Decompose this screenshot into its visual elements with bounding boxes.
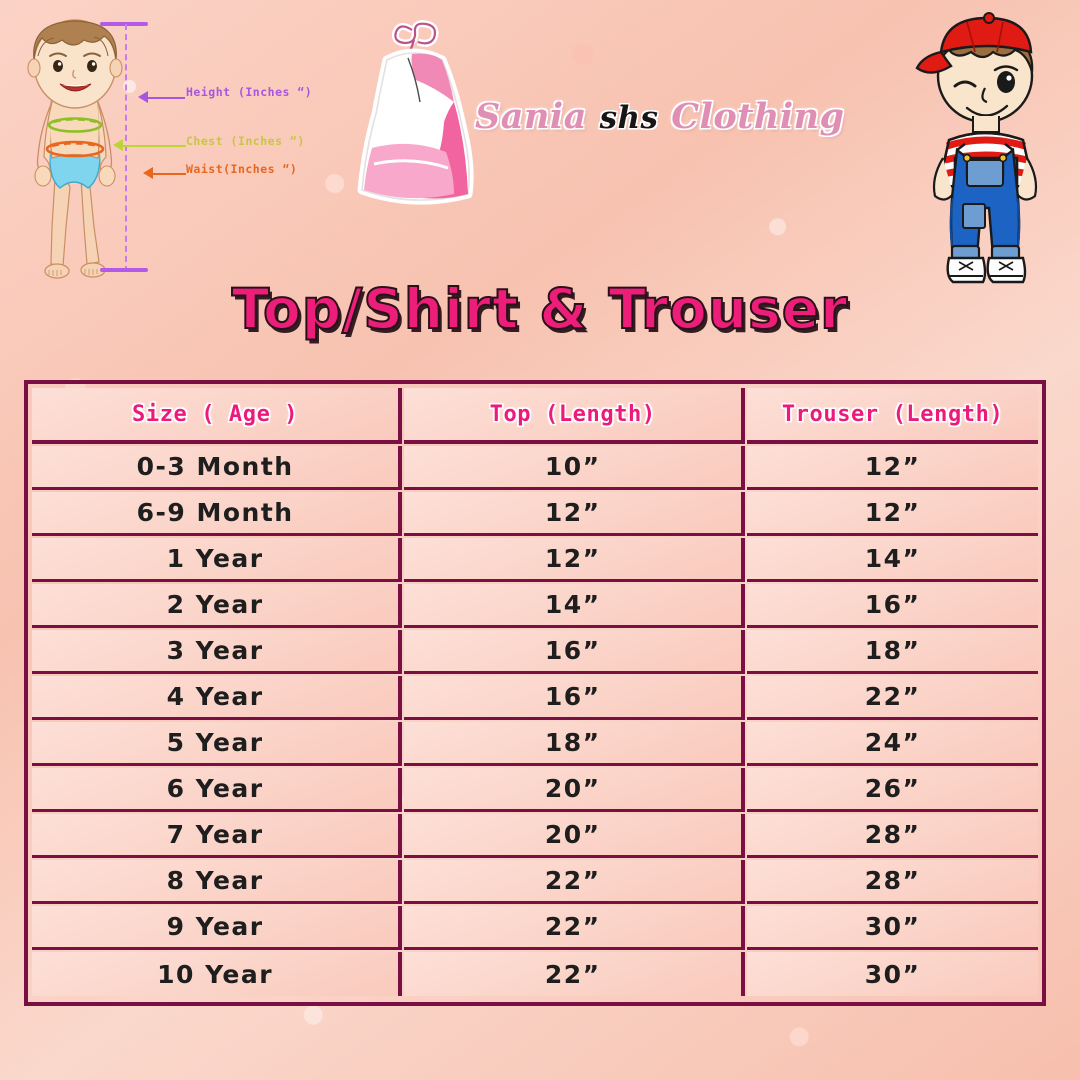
brand-logo: Sania shs Clothing (345, 10, 845, 210)
brand-name-part1: Sania (475, 96, 587, 137)
cell-trouser-length: 28” (747, 860, 1038, 904)
waist-measurement-label: Waist(Inches “) (186, 162, 297, 176)
table-row: 9 Year22”30” (32, 906, 1038, 950)
cell-trouser-length: 16” (747, 584, 1038, 628)
table-row: 7 Year20”28” (32, 814, 1038, 858)
cell-top-length: 12” (404, 538, 745, 582)
cell-size: 0-3 Month (32, 446, 402, 490)
height-bracket-line (125, 24, 127, 272)
cell-trouser-length: 18” (747, 630, 1038, 674)
cell-top-length: 20” (404, 768, 745, 812)
column-header-top: Top (Length) (404, 388, 745, 444)
cell-size: 6 Year (32, 768, 402, 812)
table-row: 10 Year22”30” (32, 952, 1038, 996)
cell-top-length: 10” (404, 446, 745, 490)
size-chart-table: Size ( Age ) Top (Length) Trouser (Lengt… (30, 386, 1040, 998)
height-bracket-top-cap (100, 22, 148, 26)
cell-top-length: 22” (404, 860, 745, 904)
cell-size: 7 Year (32, 814, 402, 858)
toddler-girl-measurement-figure (8, 12, 148, 284)
column-header-trouser: Trouser (Length) (747, 388, 1038, 444)
cell-size: 4 Year (32, 676, 402, 720)
height-bracket-bottom-cap (100, 268, 148, 272)
cell-trouser-length: 30” (747, 952, 1038, 996)
table-row: 3 Year16”18” (32, 630, 1038, 674)
cell-top-length: 16” (404, 676, 745, 720)
table-header-row: Size ( Age ) Top (Length) Trouser (Lengt… (32, 388, 1038, 444)
cell-size: 9 Year (32, 906, 402, 950)
cell-size: 10 Year (32, 952, 402, 996)
table-row: 6 Year20”26” (32, 768, 1038, 812)
page-title: Top/Shirt & Trouser (0, 277, 1080, 341)
table-row: 6-9 Month12”12” (32, 492, 1038, 536)
cell-trouser-length: 28” (747, 814, 1038, 858)
table-body: 0-3 Month10”12”6-9 Month12”12”1 Year12”1… (32, 446, 1038, 996)
table-row: 1 Year12”14” (32, 538, 1038, 582)
table-row: 8 Year22”28” (32, 860, 1038, 904)
cell-trouser-length: 26” (747, 768, 1038, 812)
column-header-size: Size ( Age ) (32, 388, 402, 444)
cell-size: 3 Year (32, 630, 402, 674)
waist-leader-line (150, 173, 186, 175)
chest-leader-line (120, 145, 186, 147)
cell-trouser-length: 12” (747, 492, 1038, 536)
cell-top-length: 12” (404, 492, 745, 536)
cell-top-length: 20” (404, 814, 745, 858)
height-measurement-label: Height (Inches “) (186, 85, 312, 99)
chest-arrow-icon (113, 139, 123, 151)
cell-size: 2 Year (32, 584, 402, 628)
cell-size: 5 Year (32, 722, 402, 766)
cell-top-length: 14” (404, 584, 745, 628)
table-row: 0-3 Month10”12” (32, 446, 1038, 490)
height-arrow-icon (138, 91, 148, 103)
cell-top-length: 22” (404, 906, 745, 950)
boy-in-overalls-figure (905, 8, 1065, 288)
cell-top-length: 18” (404, 722, 745, 766)
table-header: Size ( Age ) Top (Length) Trouser (Lengt… (32, 388, 1038, 444)
table-row: 5 Year18”24” (32, 722, 1038, 766)
cell-trouser-length: 24” (747, 722, 1038, 766)
brand-name-part3: Clothing (671, 96, 844, 137)
cell-trouser-length: 14” (747, 538, 1038, 582)
cell-trouser-length: 30” (747, 906, 1038, 950)
brand-name-part2: shs (600, 100, 659, 136)
table-row: 4 Year16”22” (32, 676, 1038, 720)
cell-size: 6-9 Month (32, 492, 402, 536)
cell-size: 8 Year (32, 860, 402, 904)
cell-size: 1 Year (32, 538, 402, 582)
brand-name: Sania shs Clothing (475, 96, 855, 137)
dress-icon (350, 18, 480, 208)
chest-measurement-label: Chest (Inches “) (186, 134, 305, 148)
height-leader-line (145, 97, 185, 99)
cell-trouser-length: 22” (747, 676, 1038, 720)
header-illustration-zone: Height (Inches “) Chest (Inches “) Waist… (0, 0, 1080, 285)
size-chart-table-wrapper: Size ( Age ) Top (Length) Trouser (Lengt… (24, 380, 1046, 1006)
cell-top-length: 22” (404, 952, 745, 996)
cell-top-length: 16” (404, 630, 745, 674)
waist-arrow-icon (143, 167, 153, 179)
cell-trouser-length: 12” (747, 446, 1038, 490)
table-row: 2 Year14”16” (32, 584, 1038, 628)
